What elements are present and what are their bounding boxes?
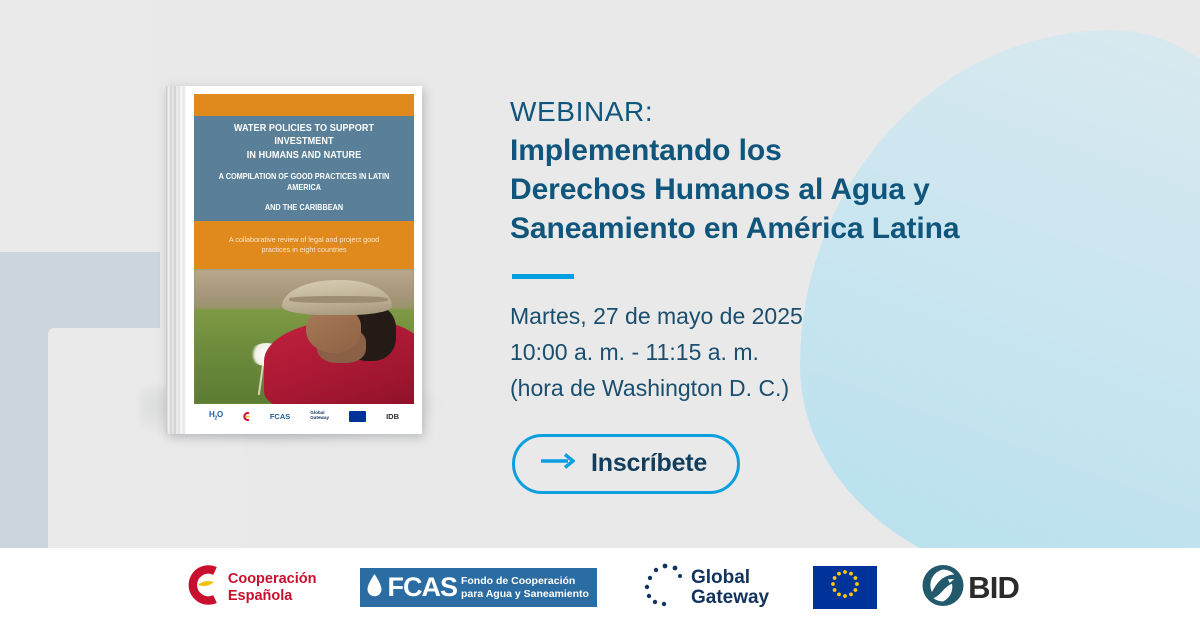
cooperacion-espanola-line2: Española — [228, 588, 292, 604]
event-date: Martes, 27 de mayo de 2025 — [510, 299, 1110, 335]
book-cover-top-band — [194, 94, 414, 116]
register-button-label: Inscríbete — [591, 449, 707, 478]
global-gateway-logo: Global Gateway — [641, 562, 769, 613]
page-title: Implementando los Derechos Humanos al Ag… — [510, 131, 1110, 248]
book-title-band: WATER POLICIES TO SUPPORT INVESTMENT IN … — [194, 116, 414, 221]
eu-flag-icon — [349, 411, 366, 422]
idb-icon: IDB — [386, 412, 399, 421]
fcas-logo: FCAS Fondo de Cooperación para Agua y Sa… — [360, 568, 596, 607]
bid-wordmark: BID — [968, 570, 1019, 606]
gateway-stars-icon — [641, 562, 687, 613]
global-gateway-line1: Global — [691, 567, 750, 588]
book-front-cover: WATER POLICIES TO SUPPORT INVESTMENT IN … — [186, 86, 422, 434]
book-spine-pages — [166, 86, 186, 434]
global-gateway-icon: GlobalGateway — [310, 411, 329, 421]
book-cover-blurb-line1: A collaborative review of legal and proj… — [216, 235, 392, 245]
photo-hat-band — [289, 296, 388, 303]
webinar-promo-banner: WATER POLICIES TO SUPPORT INVESTMENT IN … — [0, 0, 1200, 627]
book-cover-subtitle-line2: AND THE CARIBBEAN — [214, 202, 394, 213]
book-cover-blurb-line2: practices in eight countries — [216, 245, 392, 255]
bid-swoosh-icon — [921, 564, 965, 611]
fcas-wordmark: FCAS — [387, 572, 457, 603]
cooperacion-espanola-text: Cooperación Española — [228, 571, 317, 603]
cooperacion-espanola-icon — [181, 563, 221, 612]
event-time: 10:00 a. m. - 11:15 a. m. — [510, 335, 1110, 371]
event-datetime: Martes, 27 de mayo de 2025 10:00 a. m. -… — [510, 299, 1110, 406]
event-timezone: (hora de Washington D. C.) — [510, 371, 1110, 407]
arrow-right-icon — [541, 452, 575, 475]
book-cover-inner: WATER POLICIES TO SUPPORT INVESTMENT IN … — [194, 94, 414, 428]
h2o-icon: H2O — [209, 410, 223, 422]
fcas-tagline-line2: para Agua y Saneamiento — [461, 588, 589, 600]
eu-stars-icon — [813, 564, 877, 612]
book-cover-mockup: WATER POLICIES TO SUPPORT INVESTMENT IN … — [166, 86, 422, 434]
headline-line-1: Implementando los — [510, 131, 1110, 170]
cooperacion-espanola-icon — [243, 412, 250, 421]
book-cover-blurb: A collaborative review of legal and proj… — [194, 221, 414, 269]
cooperacion-espanola-logo: Cooperación Española — [181, 563, 317, 612]
book-cover-logo-strip: H2O FCAS GlobalGateway IDB — [194, 404, 414, 428]
cooperacion-espanola-line1: Cooperación — [228, 571, 317, 587]
european-union-flag-logo — [813, 566, 877, 609]
fcas-tagline: Fondo de Cooperación para Agua y Saneami… — [461, 575, 589, 600]
eyebrow-label: WEBINAR: — [510, 96, 1110, 128]
bid-logo: BID — [921, 564, 1019, 611]
global-gateway-line2: Gateway — [691, 587, 769, 608]
headline-line-3: Saneamiento en América Latina — [510, 209, 1110, 248]
register-button[interactable]: Inscríbete — [512, 434, 740, 494]
book-cover-title-line2: IN HUMANS AND NATURE — [214, 149, 394, 162]
decorative-top-left-strip — [0, 0, 150, 254]
water-drop-icon — [366, 573, 383, 603]
headline-line-2: Derechos Humanos al Agua y — [510, 170, 1110, 209]
book-cover-subtitle-line1: A COMPILATION OF GOOD PRACTICES IN LATIN… — [214, 171, 394, 193]
book-cover-photo — [194, 269, 414, 404]
global-gateway-text: Global Gateway — [691, 568, 769, 608]
footer-logo-bar: Cooperación Española FCAS Fondo de Coope… — [0, 548, 1200, 627]
accent-divider — [512, 274, 574, 279]
main-content: WEBINAR: Implementando los Derechos Huma… — [510, 96, 1110, 494]
fcas-icon: FCAS — [270, 412, 290, 421]
book: WATER POLICIES TO SUPPORT INVESTMENT IN … — [166, 86, 422, 434]
fcas-tagline-line1: Fondo de Cooperación — [461, 575, 575, 587]
book-cover-title-line1: WATER POLICIES TO SUPPORT INVESTMENT — [214, 122, 394, 149]
